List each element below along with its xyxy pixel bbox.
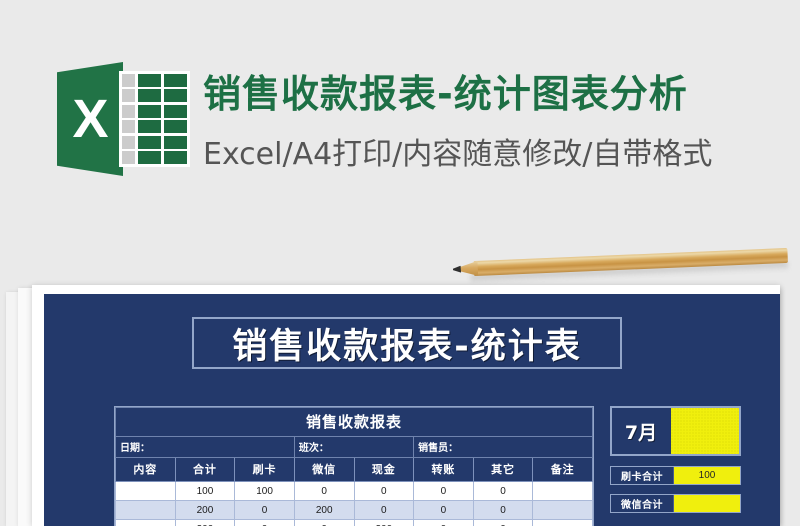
- salesperson-label[interactable]: 销售员：: [414, 437, 593, 458]
- table-row[interactable]: 200 0 200 0 0 0: [116, 501, 593, 520]
- promo-title: 销售收款报表-统计图表分析: [203, 63, 688, 118]
- month-label: 7月: [612, 408, 670, 454]
- cell-wechat[interactable]: 0: [294, 520, 354, 526]
- column-header-card: 刷卡: [235, 458, 295, 482]
- cell-content[interactable]: [116, 520, 176, 526]
- month-selector[interactable]: 7月: [610, 406, 741, 456]
- cell-remark[interactable]: [533, 482, 593, 501]
- cell-card[interactable]: 100: [235, 482, 295, 501]
- sheet-title: 销售收款报表: [116, 408, 593, 437]
- cell-transfer[interactable]: 0: [414, 482, 474, 501]
- summary-label: 刷卡合计: [611, 467, 673, 484]
- date-label[interactable]: 日期：: [116, 437, 295, 458]
- table-row[interactable]: 100 100 0 0 0 0: [116, 482, 593, 501]
- sheet-meta-row: 日期： 班次： 销售员：: [116, 437, 593, 458]
- cell-total[interactable]: 200: [175, 501, 235, 520]
- cell-wechat[interactable]: 200: [294, 501, 354, 520]
- summary-label: 微信合计: [611, 495, 673, 512]
- cell-total[interactable]: 300: [175, 520, 235, 526]
- shift-label[interactable]: 班次：: [294, 437, 413, 458]
- report-document: 销售收款报表-统计表 销售收款报表 日期： 班次： 销售员： 内容 合计: [32, 285, 780, 526]
- cell-wechat[interactable]: 0: [294, 482, 354, 501]
- sheet-title-row: 销售收款报表: [116, 408, 593, 437]
- document-title: 销售收款报表-统计表: [232, 318, 582, 369]
- column-header-content: 内容: [116, 458, 176, 482]
- column-header-row: 内容 合计 刷卡 微信 现金 转账 其它 备注: [116, 458, 593, 482]
- cell-remark[interactable]: [533, 501, 593, 520]
- cell-cash[interactable]: 0: [354, 501, 414, 520]
- summary-row-card-total[interactable]: 刷卡合计 100: [610, 466, 741, 485]
- table-row[interactable]: 300 0 0 300 0 0: [116, 520, 593, 526]
- sales-table-body: 100 100 0 0 0 0 200 0 200 0 0: [116, 482, 593, 526]
- summary-row-wechat-total[interactable]: 微信合计: [610, 494, 741, 513]
- cell-cash[interactable]: 0: [354, 482, 414, 501]
- column-header-total: 合计: [175, 458, 235, 482]
- summary-panel: 7月 刷卡合计 100 微信合计: [610, 406, 768, 522]
- cell-other[interactable]: 0: [473, 501, 533, 520]
- yellow-swatch[interactable]: [670, 408, 739, 454]
- column-header-cash: 现金: [354, 458, 414, 482]
- cell-total[interactable]: 100: [175, 482, 235, 501]
- column-header-wechat: 微信: [294, 458, 354, 482]
- promo-banner: X 销售收款报表-统计图表分析 Excel/A4打印/内容随意修改/自带格式: [0, 0, 800, 248]
- document-navy-background: 销售收款报表-统计表 销售收款报表 日期： 班次： 销售员： 内容 合计: [44, 294, 780, 526]
- excel-logo-letter: X: [57, 62, 123, 176]
- document-title-box: 销售收款报表-统计表: [192, 317, 622, 369]
- column-header-transfer: 转账: [414, 458, 474, 482]
- pencil-decoration: [451, 244, 788, 284]
- summary-value[interactable]: [673, 495, 740, 512]
- cell-transfer[interactable]: 0: [414, 520, 474, 526]
- summary-value[interactable]: 100: [673, 467, 740, 484]
- sales-table: 销售收款报表 日期： 班次： 销售员： 内容 合计 刷卡 微信 现金 转账: [115, 407, 593, 526]
- column-header-remark: 备注: [533, 458, 593, 482]
- cell-card[interactable]: 0: [235, 501, 295, 520]
- column-header-other: 其它: [473, 458, 533, 482]
- cell-content[interactable]: [116, 482, 176, 501]
- cell-other[interactable]: 0: [473, 482, 533, 501]
- sales-sheet: 销售收款报表 日期： 班次： 销售员： 内容 合计 刷卡 微信 现金 转账: [114, 406, 594, 526]
- pencil-tip-wood: [459, 261, 479, 277]
- cell-card[interactable]: 0: [235, 520, 295, 526]
- excel-logo-icon: X: [57, 62, 190, 176]
- cell-other[interactable]: 0: [473, 520, 533, 526]
- excel-logo-grid: [119, 71, 190, 167]
- cell-remark[interactable]: [533, 520, 593, 526]
- promo-subtitle: Excel/A4打印/内容随意修改/自带格式: [203, 129, 712, 173]
- pencil-tip-lead: [453, 266, 461, 273]
- cell-transfer[interactable]: 0: [414, 501, 474, 520]
- cell-cash[interactable]: 300: [354, 520, 414, 526]
- cell-content[interactable]: [116, 501, 176, 520]
